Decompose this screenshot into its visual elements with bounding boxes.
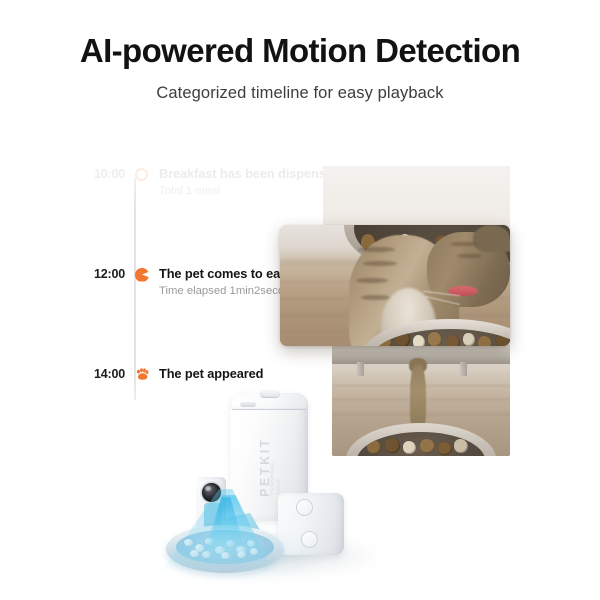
model-name: YUMSHARE SOLO — [270, 455, 282, 495]
bowl-dispensed-icon — [134, 166, 150, 182]
cat-ear — [473, 225, 510, 252]
paw-print-icon — [134, 366, 150, 382]
lid-latch[interactable] — [240, 402, 256, 407]
lens-glint — [205, 486, 211, 491]
page-title: AI-powered Motion Detection — [0, 0, 600, 70]
lid-handle[interactable] — [260, 390, 280, 398]
header: AI-powered Motion Detection Categorized … — [0, 0, 600, 103]
power-button[interactable] — [296, 499, 313, 516]
eating-mouth-icon — [134, 266, 150, 282]
lid-seam — [232, 409, 306, 410]
paw-print-glyph — [135, 367, 150, 382]
promo-graphic: AI-powered Motion Detection Categorized … — [0, 0, 600, 600]
cat-stripe — [361, 295, 391, 300]
timeline-event-time: 12:00 — [88, 266, 134, 282]
furniture-leg — [357, 362, 364, 376]
furniture-leg — [460, 362, 467, 376]
timeline-event-time: 10:00 — [88, 166, 134, 182]
page-subtitle: Categorized timeline for easy playback — [0, 70, 600, 103]
pet-feeder-device: PETKIT YUMSHARE SOLO — [160, 385, 390, 585]
timeline-event-time: 14:00 — [88, 366, 134, 382]
beam-floor-glow — [170, 535, 320, 575]
cat-stripe — [358, 247, 395, 252]
thumbnail-cat-eating[interactable] — [280, 225, 510, 346]
